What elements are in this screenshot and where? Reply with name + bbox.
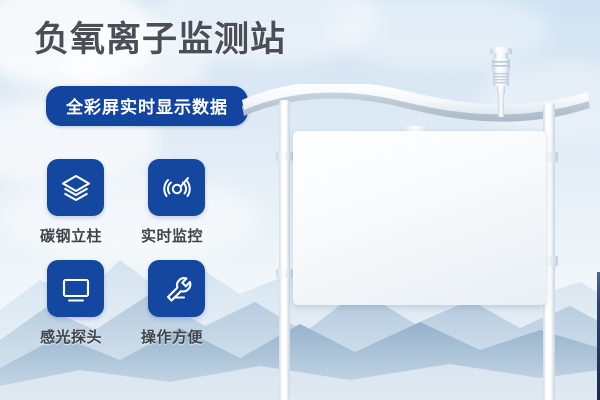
sensor-mast [498,93,504,117]
monitoring-station [0,0,600,400]
outdoor-lcd-display[interactable] [293,131,546,305]
left-support-pole [279,100,290,400]
screenshot-root: 负氧离子监测站 全彩屏实时显示数据 碳钢立柱 [0,0,600,400]
air-quality-sensor-head [481,44,521,98]
pole-clamp [276,152,293,161]
pole-clamp [276,269,293,278]
